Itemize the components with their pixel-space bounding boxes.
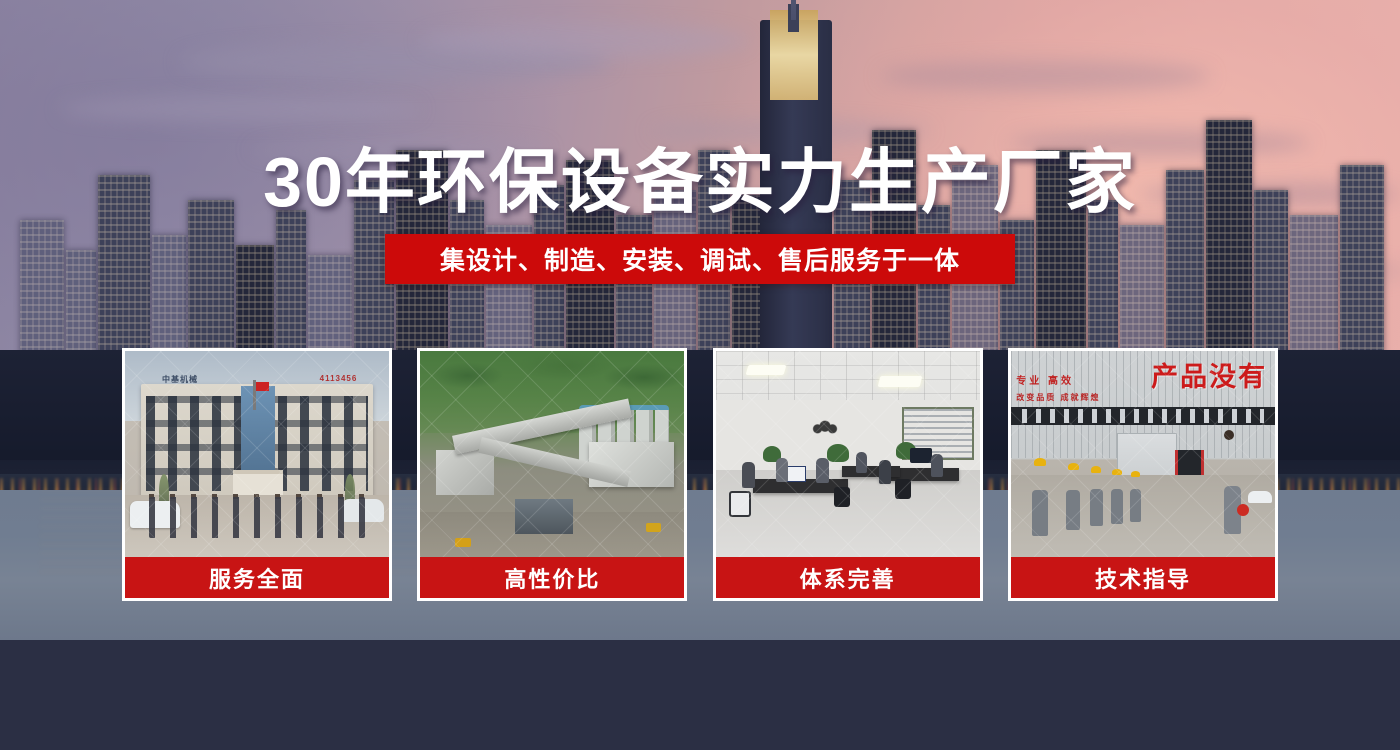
ceiling-light xyxy=(746,365,787,375)
hard-hat xyxy=(1131,471,1140,477)
worker xyxy=(1066,490,1080,530)
worker xyxy=(1032,490,1048,536)
parked-car xyxy=(1248,491,1272,503)
feature-card-list: 中基机械 4113456 服务全面 xyxy=(122,348,1278,604)
office-chair xyxy=(834,487,850,507)
ceiling-light xyxy=(878,376,923,387)
tower-spire xyxy=(791,0,796,20)
ceiling-grid xyxy=(716,351,980,405)
loading-shed xyxy=(515,499,573,534)
office-worker xyxy=(776,458,788,482)
loader-vehicle xyxy=(455,538,471,547)
phone-number-sign: 4113456 xyxy=(320,374,358,383)
wall-headline-text: 产品没有 xyxy=(1151,355,1267,394)
wall-slogan-secondary: 改变品质 成就辉煌 xyxy=(1016,392,1100,403)
wall-decal xyxy=(808,413,842,435)
promo-banner: 30年环保设备实力生产厂家 集设计、制造、安装、调试、售后服务于一体 中基机械 … xyxy=(0,0,1400,750)
feature-card[interactable]: 高性价比 xyxy=(417,348,687,604)
office-worker xyxy=(742,462,755,488)
card-photo-worker-training: 专业 高效 改变品质 成就辉煌 产品没有 xyxy=(1008,348,1278,557)
factory-hall xyxy=(436,450,494,495)
hard-hat xyxy=(1091,466,1101,473)
loader-vehicle xyxy=(646,523,661,532)
staff-lineup xyxy=(149,497,365,538)
worker xyxy=(1111,489,1123,524)
page-title: 30年环保设备实力生产厂家 xyxy=(0,126,1400,227)
feature-card[interactable]: 专业 高效 改变品质 成就辉煌 产品没有 xyxy=(1008,348,1278,604)
hard-hat xyxy=(1068,463,1079,470)
facade-band-lettering xyxy=(1022,409,1265,423)
card-label: 体系完善 xyxy=(713,557,983,601)
subtitle-text: 集设计、制造、安装、调试、售后服务于一体 xyxy=(440,241,960,277)
office-worker xyxy=(856,452,867,473)
company-sign: 中基机械 xyxy=(162,374,198,385)
subtitle-banner: 集设计、制造、安装、调试、售后服务于一体 xyxy=(385,234,1015,284)
worker xyxy=(1090,489,1103,526)
potted-plant xyxy=(827,444,849,462)
card-photo-plant-aerial xyxy=(417,348,687,557)
feature-card[interactable]: 体系完善 xyxy=(713,348,983,604)
feature-card[interactable]: 中基机械 4113456 服务全面 xyxy=(122,348,392,604)
card-label: 服务全面 xyxy=(122,557,392,601)
wall-slogan: 专业 高效 xyxy=(1016,372,1074,387)
red-helmet xyxy=(1237,504,1249,516)
office-chair xyxy=(895,479,911,499)
supervisor-head xyxy=(1224,430,1234,440)
office-desk xyxy=(842,466,900,476)
desktop-monitor xyxy=(910,448,932,463)
flagpole xyxy=(253,380,256,410)
office-worker xyxy=(931,454,943,477)
card-label: 高性价比 xyxy=(417,557,687,601)
card-photo-office-interior xyxy=(713,348,983,557)
office-worker xyxy=(879,460,891,484)
hard-hat xyxy=(1034,458,1046,466)
office-worker xyxy=(816,458,829,483)
hard-hat xyxy=(1112,469,1122,475)
office-chair xyxy=(729,491,751,517)
card-photo-office-building: 中基机械 4113456 xyxy=(122,348,392,557)
worker xyxy=(1130,489,1141,522)
card-label: 技术指导 xyxy=(1008,557,1278,601)
